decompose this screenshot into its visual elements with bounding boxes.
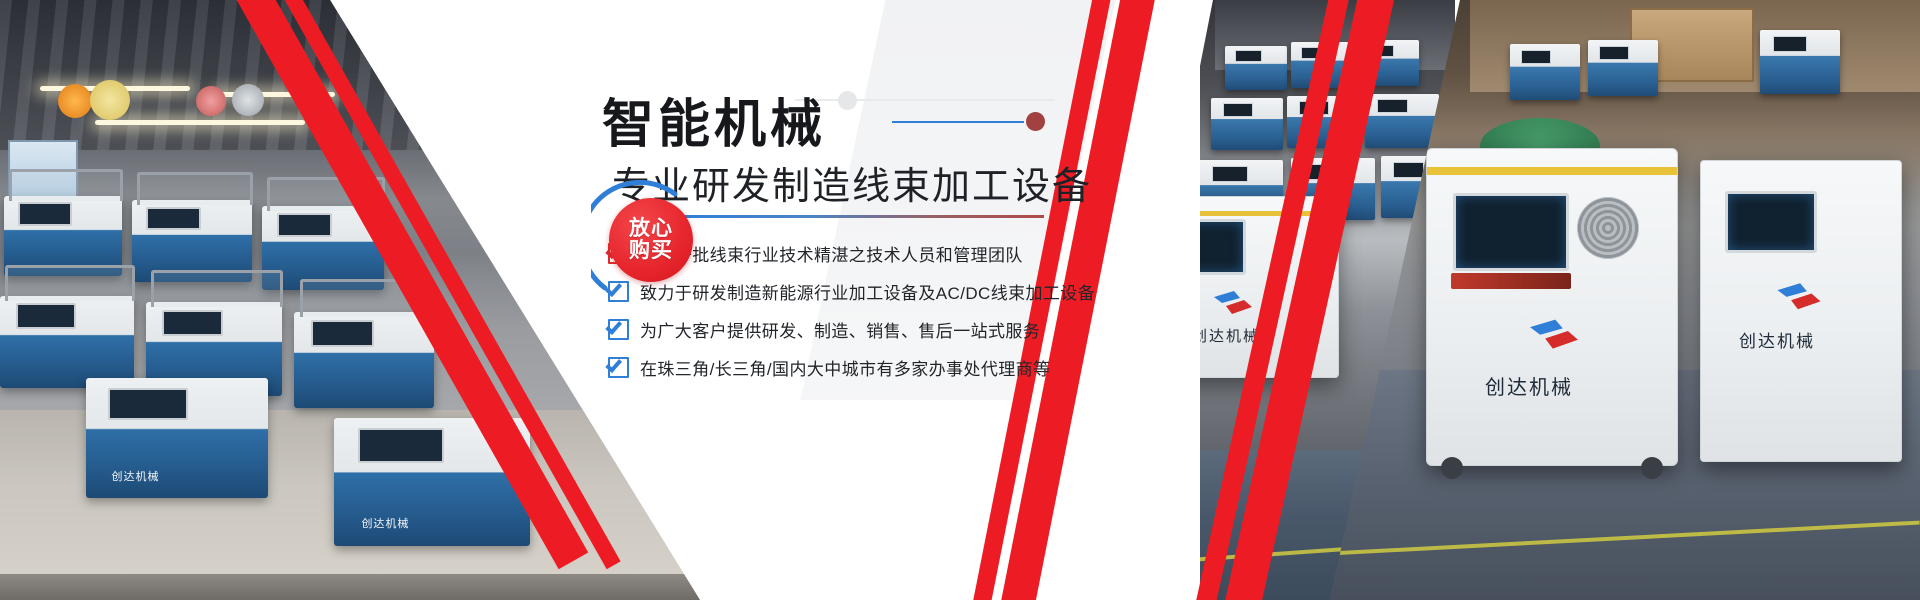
decorative-dot-grey: [838, 91, 857, 110]
brand-logo-icon: [1773, 281, 1825, 315]
warning-stripe: [1427, 167, 1677, 175]
brand-logo-icon: [1525, 317, 1583, 355]
machine-row-item: [1225, 46, 1287, 90]
cable-reel: [196, 86, 226, 116]
machine-row-item: [1211, 98, 1283, 150]
assurance-badge: 放心 购买: [609, 198, 693, 282]
machine-guard: [151, 270, 282, 307]
machine-unit: [0, 296, 134, 388]
cable-reel: [90, 80, 130, 120]
machine-brand-label: 创达机械: [361, 515, 409, 531]
ceiling-lamp: [95, 120, 305, 125]
check-icon: [608, 319, 629, 340]
machine-caster: [1641, 457, 1663, 479]
floor-shadow: [0, 574, 700, 600]
badge-line-1: 放心: [629, 218, 673, 240]
feature-text: 在珠三角/长三角/国内大中城市有多家办事处代理商等: [640, 355, 1050, 380]
machine-row-item: [1588, 40, 1658, 96]
cable-reel: [58, 84, 92, 118]
control-panel-strip: [1451, 273, 1571, 289]
machine-row-item: [1760, 30, 1840, 94]
machine-guard: [137, 172, 253, 205]
machine-brand-text: 创达机械: [1192, 325, 1260, 346]
check-icon: [608, 357, 629, 378]
decorative-rail: [795, 99, 1055, 101]
machine-unit: [294, 312, 434, 408]
featured-machine-side: 创达机械: [1700, 160, 1902, 462]
machine-touchscreen: [1453, 193, 1569, 271]
promo-banner: 创达机械 创达机械 创达机械: [0, 0, 1920, 600]
list-item: 在珠三角/长三角/国内大中城市有多家办事处代理商等: [608, 350, 1128, 384]
section-divider: [666, 215, 1044, 218]
machine-caster: [1441, 457, 1463, 479]
brand-logo-icon: [1210, 289, 1256, 319]
feature-text: 为广大客户提供研发、制造、销售、售后一站式服务: [640, 317, 1040, 342]
featured-machine-large: 创达机械: [1426, 148, 1678, 466]
machine-guard: [5, 265, 134, 301]
machine-unit-front: 创达机械: [86, 378, 268, 498]
cable-reel: [232, 84, 264, 116]
machine-guard: [9, 169, 124, 201]
machine-row-item: [1510, 44, 1580, 100]
machine-fan-grill: [1577, 197, 1639, 259]
page-title: 智能机械: [602, 99, 826, 151]
machine-brand-text: 创达机械: [1485, 371, 1573, 400]
machine-brand-text: 创达机械: [1739, 327, 1815, 352]
machine-row-item: [1365, 94, 1439, 148]
machine-brand-label: 创达机械: [111, 468, 159, 484]
decorative-dot-red: [1026, 112, 1045, 131]
badge-line-2: 购买: [629, 240, 673, 262]
decorative-accent-line: [892, 121, 1024, 123]
list-item: 为广大客户提供研发、制造、销售、售后一站式服务: [608, 312, 1128, 346]
machine-touchscreen: [1725, 191, 1817, 253]
